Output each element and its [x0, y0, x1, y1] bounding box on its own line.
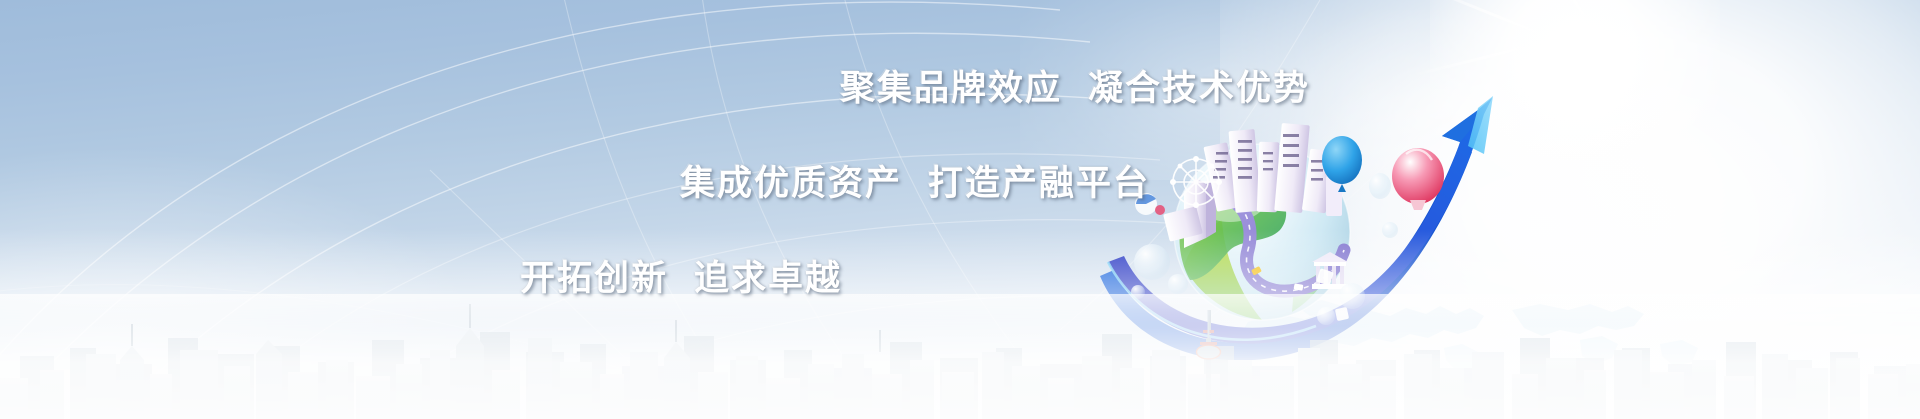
slogan-line-2-left: 集成优质资产	[680, 164, 902, 204]
slogan-line-1-right: 凝合技术优势	[1088, 69, 1310, 109]
slogan-line-2-right: 打造产融平台	[928, 164, 1150, 204]
slogan-line-3: 开拓创新追求卓越	[520, 250, 842, 301]
slogan-line-1-left: 聚集品牌效应	[840, 69, 1062, 109]
slogan-line-2: 集成优质资产打造产融平台	[680, 155, 1150, 206]
slogan-group: 聚集品牌效应凝合技术优势 集成优质资产打造产融平台 开拓创新追求卓越	[0, 0, 1920, 419]
slogan-line-3-left: 开拓创新	[520, 259, 668, 299]
slogan-line-3-right: 追求卓越	[694, 259, 842, 299]
slogan-line-1: 聚集品牌效应凝合技术优势	[840, 60, 1310, 111]
promo-banner: 聚集品牌效应凝合技术优势 集成优质资产打造产融平台 开拓创新追求卓越	[0, 0, 1920, 419]
